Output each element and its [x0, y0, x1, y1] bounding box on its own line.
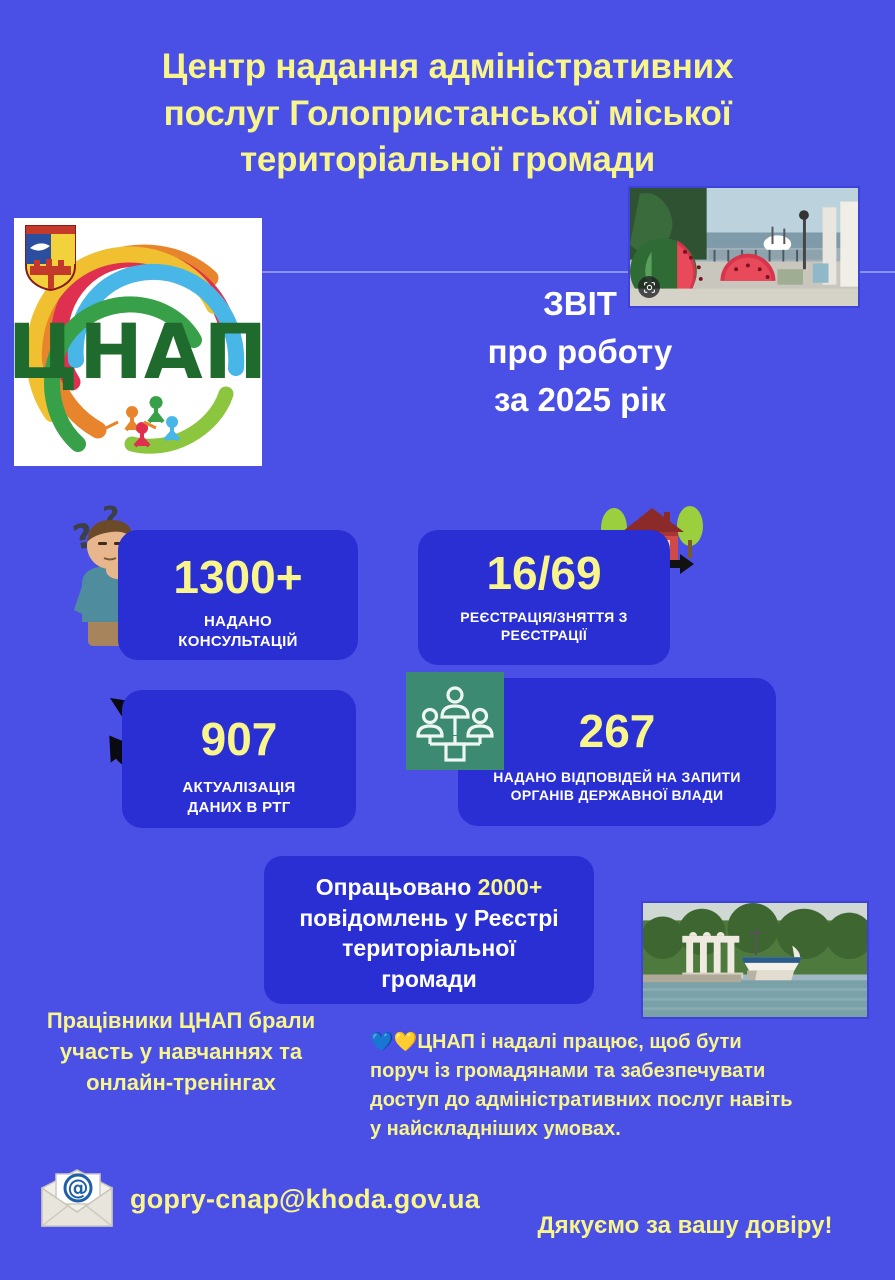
registry-prefix: Опрацьовано: [316, 874, 478, 900]
registry-text: Опрацьовано 2000+ повідомлень у Реєстрі …: [284, 872, 574, 994]
svg-text:@: @: [68, 1176, 89, 1200]
infographic-page: Центр надання адміністративних послуг Го…: [0, 0, 895, 1280]
registry-line-4: громади: [284, 964, 574, 995]
report-heading: ЗВІТ про роботу за 2025 рік: [400, 280, 760, 424]
report-line-2: про роботу: [400, 328, 760, 376]
mission-line-1: 💙💛ЦНАП і надалі працює, щоб бути: [370, 1028, 848, 1057]
stat-label-line-1: НАДАНО ВІДПОВІДЕЙ НА ЗАПИТИ: [468, 768, 766, 786]
stat-number-consultations: 1300+: [118, 554, 358, 600]
photo-boat-monument: [641, 901, 869, 1019]
title-line-1: Центр надання адміністративних: [60, 44, 835, 91]
email-envelope-icon: @: [38, 1168, 116, 1230]
stat-label-line-2: КОНСУЛЬТАЦІЙ: [118, 632, 358, 652]
report-line-1: ЗВІТ: [400, 280, 760, 328]
coat-of-arms-icon: [24, 224, 77, 292]
training-line-3: онлайн-тренінгах: [14, 1067, 348, 1098]
stat-label-line-1: РЕЄСТРАЦІЯ/ЗНЯТТЯ З: [432, 608, 656, 626]
thanks-message: Дякуємо за вашу довіру!: [495, 1212, 875, 1240]
stat-label-line-1: НАДАНО: [118, 612, 358, 632]
cnap-logo: ЦНАП: [14, 218, 262, 466]
email-address[interactable]: gopry-cnap@khoda.gov.ua: [130, 1184, 480, 1215]
title-line-3: територіальної громади: [60, 137, 835, 184]
registry-line-3: територіальної: [284, 933, 574, 964]
svg-text:ЦНАП: ЦНАП: [14, 307, 262, 396]
report-line-3: за 2025 рік: [400, 376, 760, 424]
stat-label-consultations: НАДАНО КОНСУЛЬТАЦІЙ: [118, 612, 358, 651]
registry-line-2: повідомлень у Реєстрі: [284, 903, 574, 934]
stat-card-consultations: 1300+ НАДАНО КОНСУЛЬТАЦІЙ: [118, 530, 358, 660]
training-text: Працівники ЦНАП брали участь у навчаннях…: [14, 1005, 348, 1099]
mission-text-line-1: ЦНАП і надалі працює, щоб бути: [417, 1031, 741, 1053]
registry-highlight: 2000+: [478, 874, 543, 900]
stat-card-authority-answers: 267 НАДАНО ВІДПОВІДЕЙ НА ЗАПИТИ ОРГАНІВ …: [458, 678, 776, 826]
stat-label-line-1: АКТУАЛІЗАЦІЯ: [122, 778, 356, 798]
stat-label-authority-answers: НАДАНО ВІДПОВІДЕЙ НА ЗАПИТИ ОРГАНІВ ДЕРЖ…: [458, 768, 776, 804]
stat-label-line-2: ДАНИХ В РТГ: [122, 798, 356, 818]
registry-line-1: Опрацьовано 2000+: [284, 872, 574, 903]
mission-text: 💙💛ЦНАП і надалі працює, щоб бути поруч і…: [370, 1028, 848, 1144]
mission-line-4: у найскладніших умовах.: [370, 1115, 848, 1144]
stat-number-registration: 16/69: [418, 550, 670, 596]
stat-label-data-update: АКТУАЛІЗАЦІЯ ДАНИХ В РТГ: [122, 778, 356, 817]
hearts-icon: 💙💛: [370, 1032, 417, 1053]
stat-card-data-update: 907 АКТУАЛІЗАЦІЯ ДАНИХ В РТГ: [122, 690, 356, 828]
stat-label-line-2: ОРГАНІВ ДЕРЖАВНОЇ ВЛАДИ: [468, 786, 766, 804]
stat-label-registration: РЕЄСТРАЦІЯ/ЗНЯТТЯ З РЕЄСТРАЦІЇ: [418, 608, 670, 644]
org-chart-icon: [406, 672, 504, 770]
registry-messages-card: Опрацьовано 2000+ повідомлень у Реєстрі …: [264, 856, 594, 1004]
contact-email-row[interactable]: @ gopry-cnap@khoda.gov.ua: [38, 1168, 480, 1230]
mission-line-3: доступ до адміністративних послуг навіть: [370, 1086, 848, 1115]
boat-monument-image: [643, 903, 867, 1017]
stat-card-registration: 16/69 РЕЄСТРАЦІЯ/ЗНЯТТЯ З РЕЄСТРАЦІЇ: [418, 530, 670, 665]
stat-number-data-update: 907: [122, 716, 356, 762]
title-line-2: послуг Голопристанської міської: [60, 91, 835, 138]
stat-label-line-2: РЕЄСТРАЦІЇ: [432, 626, 656, 644]
training-line-1: Працівники ЦНАП брали: [14, 1005, 348, 1036]
page-title: Центр надання адміністративних послуг Го…: [60, 44, 835, 184]
mission-line-2: поруч із громадянами та забезпечувати: [370, 1057, 848, 1086]
stat-number-authority-answers: 267: [458, 708, 776, 754]
training-line-2: участь у навчаннях та: [14, 1036, 348, 1067]
